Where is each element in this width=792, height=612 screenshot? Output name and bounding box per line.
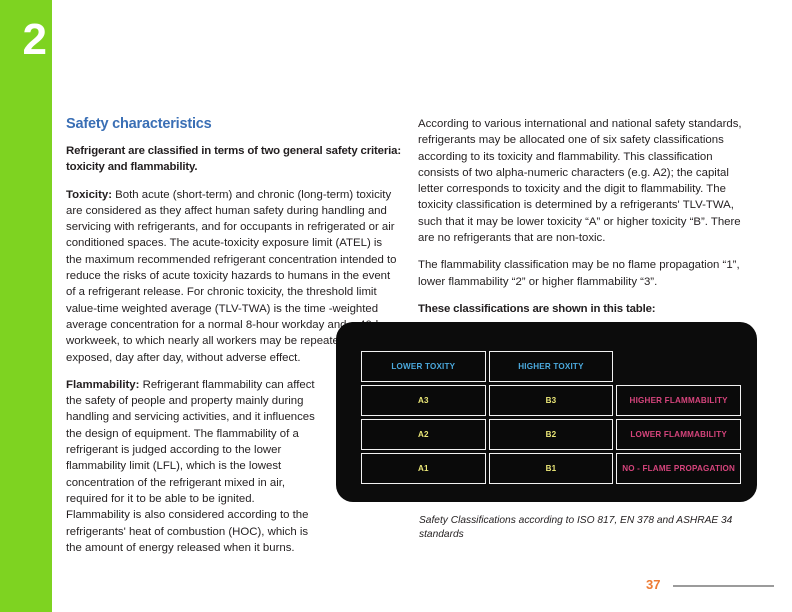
- table-row: A2 B2 LOWER FLAMMABILITY: [361, 419, 741, 450]
- page-content: Safety characteristics Refrigerant are c…: [0, 0, 792, 612]
- classification-paragraph-2: The flammability classification may be n…: [418, 257, 743, 290]
- lead-paragraph: Refrigerant are classified in terms of t…: [66, 143, 401, 176]
- header-higher-toxity: HIGHER TOXITY: [489, 351, 614, 382]
- table-row: A3 B3 HIGHER FLAMMABILITY: [361, 385, 741, 416]
- cell-lower-flammability: LOWER FLAMMABILITY: [616, 419, 741, 450]
- table-row: A1 B1 NO - FLAME PROPAGATION: [361, 453, 741, 484]
- header-spacer-cell: [616, 351, 741, 382]
- page-footer: 37: [646, 578, 774, 594]
- cell-a2: A2: [361, 419, 486, 450]
- header-lower-toxity: LOWER TOXITY: [361, 351, 486, 382]
- cell-no-flame-propagation: NO - FLAME PROPAGATION: [616, 453, 741, 484]
- flammability-body: Refrigerant flammability can affect the …: [66, 379, 315, 554]
- cell-a3: A3: [361, 385, 486, 416]
- cell-higher-flammability: HIGHER FLAMMABILITY: [616, 385, 741, 416]
- flammability-paragraph: Flammability: Refrigerant flammability c…: [66, 377, 316, 556]
- classification-paragraph-1: According to various international and n…: [418, 116, 743, 246]
- toxicity-label: Toxicity:: [66, 189, 112, 201]
- page-number: 37: [646, 578, 660, 592]
- section-heading: Safety characteristics: [66, 116, 401, 132]
- classification-panel: LOWER TOXITY HIGHER TOXITY A3 B3 HIGHER …: [336, 322, 757, 502]
- footer-rule: [673, 585, 774, 587]
- table-caption: Safety Classifications according to ISO …: [419, 514, 749, 542]
- table-header-row: LOWER TOXITY HIGHER TOXITY: [361, 351, 741, 382]
- cell-b1: B1: [489, 453, 614, 484]
- right-column: According to various international and n…: [418, 116, 743, 328]
- cell-b3: B3: [489, 385, 614, 416]
- flammability-label: Flammability:: [66, 379, 139, 391]
- table-lead-in: These classifications are shown in this …: [418, 301, 743, 317]
- classification-table: LOWER TOXITY HIGHER TOXITY A3 B3 HIGHER …: [358, 348, 744, 487]
- cell-a1: A1: [361, 453, 486, 484]
- cell-b2: B2: [489, 419, 614, 450]
